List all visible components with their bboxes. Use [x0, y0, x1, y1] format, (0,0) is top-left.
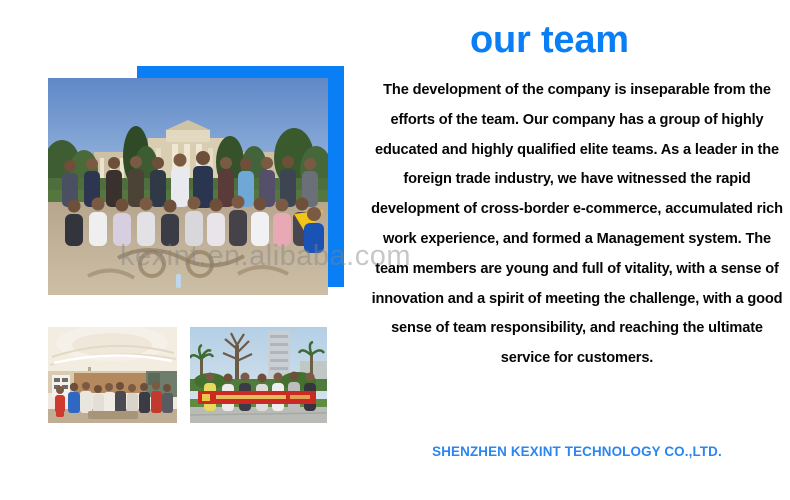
text-column: our team The development of the company … [360, 0, 790, 500]
photo-collage: kexint.en.alibaba.com [0, 0, 360, 500]
photo-indoor-illustration [48, 327, 177, 423]
team-description-paragraph: The development of the company is insepa… [368, 76, 786, 374]
photo-banner-illustration [190, 327, 327, 423]
team-group-photo-outdoor-banner [190, 327, 327, 423]
company-name-label: SHENZHEN KEXINT TECHNOLOGY CO.,LTD. [368, 444, 786, 459]
page-title: our team [470, 21, 629, 59]
team-group-photo-indoor-lobby [48, 327, 177, 423]
our-team-slide: kexint.en.alibaba.com our team The devel… [0, 0, 790, 500]
team-group-photo-outdoor-palace [48, 78, 328, 295]
photo-main-illustration [48, 78, 328, 295]
